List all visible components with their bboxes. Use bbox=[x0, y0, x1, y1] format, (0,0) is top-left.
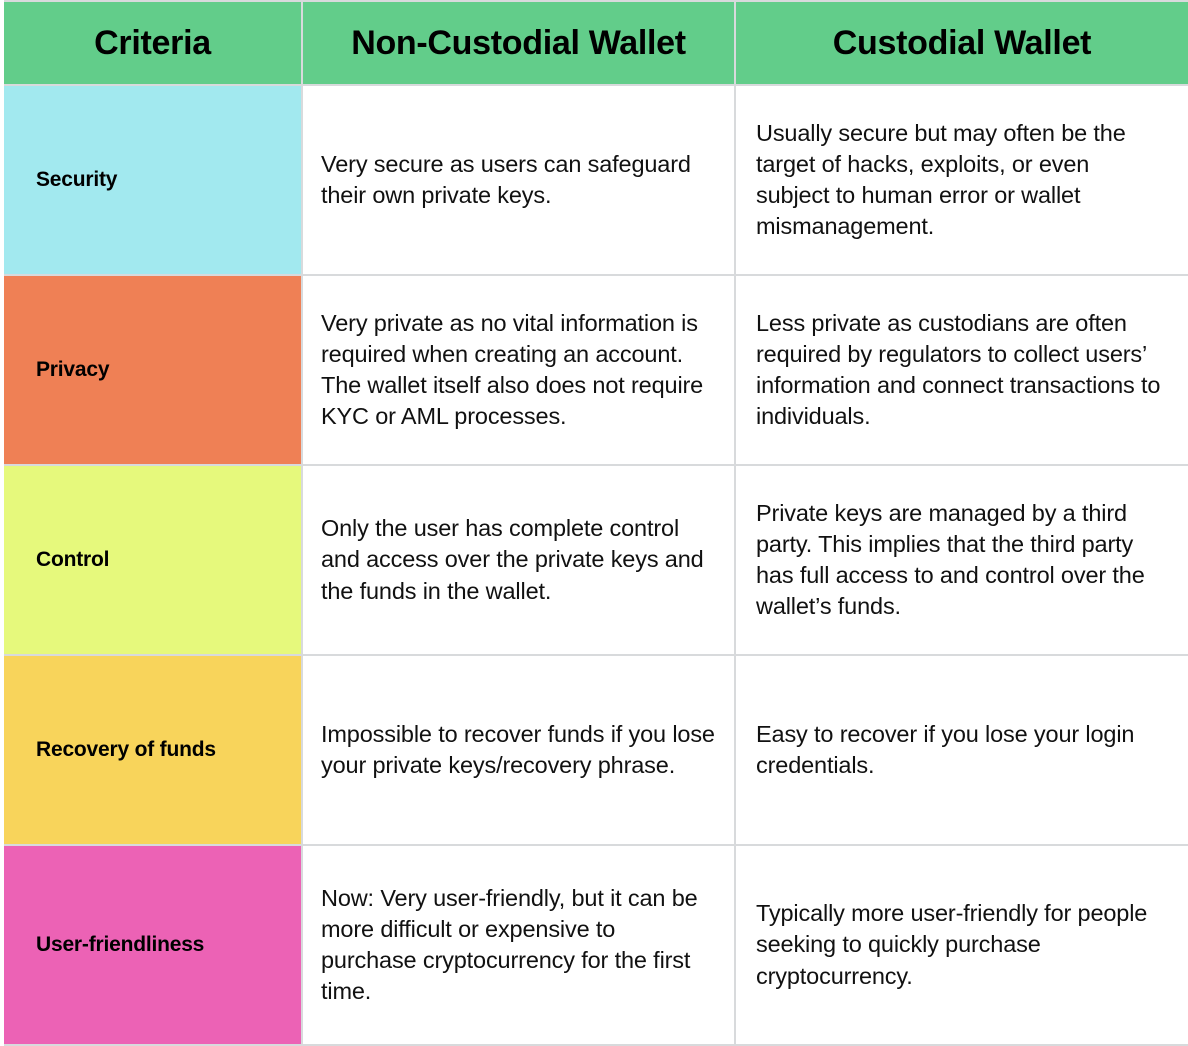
criteria-label-user-friendliness: User-friendliness bbox=[2, 845, 302, 1045]
comparison-table-container: Criteria Non-Custodial Wallet Custodial … bbox=[0, 0, 1188, 1038]
table-row: User-friendliness Now: Very user-friendl… bbox=[2, 845, 1188, 1045]
cell-privacy-custodial: Less private as custodians are often req… bbox=[735, 275, 1188, 465]
header-row: Criteria Non-Custodial Wallet Custodial … bbox=[2, 1, 1188, 85]
criteria-label-security: Security bbox=[2, 85, 302, 275]
cell-user-friendliness-non-custodial: Now: Very user-friendly, but it can be m… bbox=[302, 845, 735, 1045]
column-header-custodial-wallet: Custodial Wallet bbox=[735, 1, 1188, 85]
table-header: Criteria Non-Custodial Wallet Custodial … bbox=[2, 1, 1188, 85]
criteria-label-control: Control bbox=[2, 465, 302, 655]
cell-control-custodial: Private keys are managed by a third part… bbox=[735, 465, 1188, 655]
table-row: Recovery of funds Impossible to recover … bbox=[2, 655, 1188, 845]
wallet-comparison-table: Criteria Non-Custodial Wallet Custodial … bbox=[0, 0, 1188, 1046]
cell-security-custodial: Usually secure but may often be the targ… bbox=[735, 85, 1188, 275]
table-row: Privacy Very private as no vital informa… bbox=[2, 275, 1188, 465]
cell-text: Impossible to recover funds if you lose … bbox=[321, 719, 716, 782]
cell-control-non-custodial: Only the user has complete control and a… bbox=[302, 465, 735, 655]
table-body: Security Very secure as users can safegu… bbox=[2, 85, 1188, 1045]
cell-text: Typically more user-friendly for people … bbox=[756, 898, 1166, 992]
cell-text: Usually secure but may often be the targ… bbox=[756, 118, 1166, 243]
cell-security-non-custodial: Very secure as users can safeguard their… bbox=[302, 85, 735, 275]
cell-recovery-custodial: Easy to recover if you lose your login c… bbox=[735, 655, 1188, 845]
table-row: Security Very secure as users can safegu… bbox=[2, 85, 1188, 275]
criteria-label-recovery-of-funds: Recovery of funds bbox=[2, 655, 302, 845]
table-row: Control Only the user has complete contr… bbox=[2, 465, 1188, 655]
cell-privacy-non-custodial: Very private as no vital information is … bbox=[302, 275, 735, 465]
cell-text: Very secure as users can safeguard their… bbox=[321, 149, 716, 212]
cell-text: Very private as no vital information is … bbox=[321, 308, 716, 433]
criteria-label-privacy: Privacy bbox=[2, 275, 302, 465]
cell-text: Easy to recover if you lose your login c… bbox=[756, 719, 1166, 782]
cell-recovery-non-custodial: Impossible to recover funds if you lose … bbox=[302, 655, 735, 845]
cell-text: Private keys are managed by a third part… bbox=[756, 498, 1166, 623]
cell-text: Only the user has complete control and a… bbox=[321, 513, 716, 607]
cell-text: Now: Very user-friendly, but it can be m… bbox=[321, 883, 716, 1008]
cell-user-friendliness-custodial: Typically more user-friendly for people … bbox=[735, 845, 1188, 1045]
column-header-non-custodial-wallet: Non-Custodial Wallet bbox=[302, 1, 735, 85]
column-header-criteria: Criteria bbox=[2, 1, 302, 85]
cell-text: Less private as custodians are often req… bbox=[756, 308, 1166, 433]
